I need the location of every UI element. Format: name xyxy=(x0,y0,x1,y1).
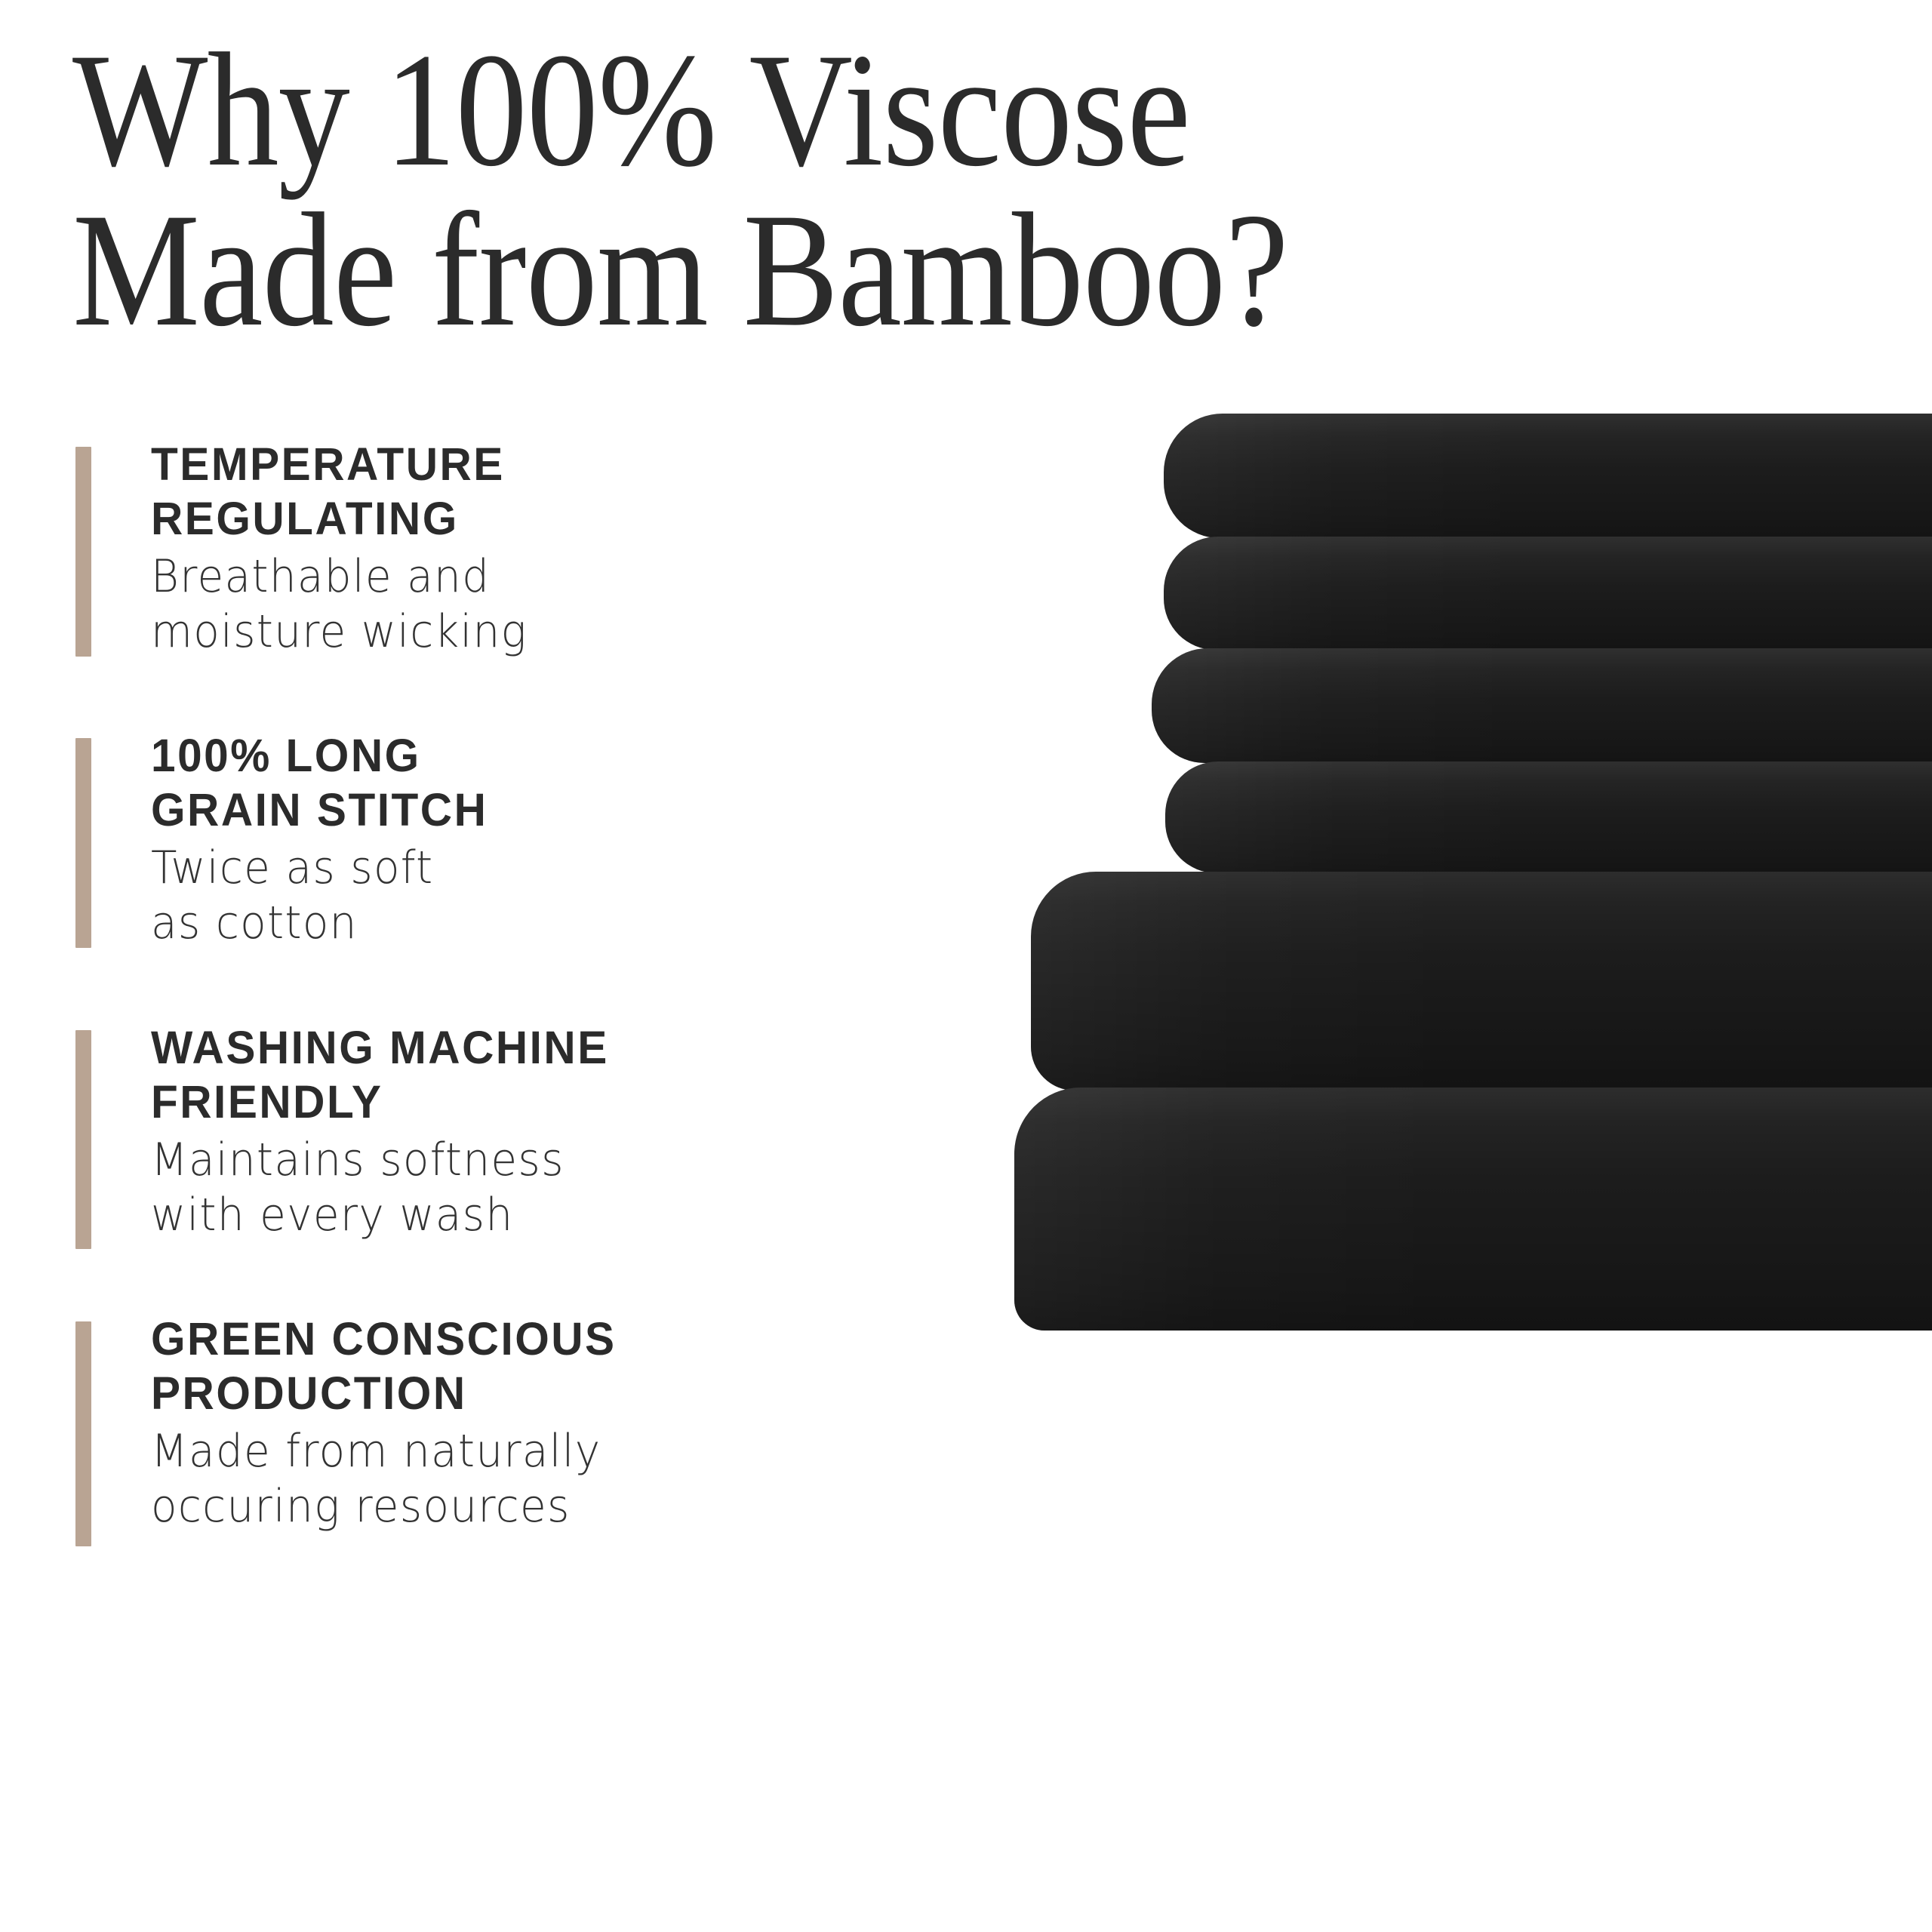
headline-line-1: Why 100% Viscose xyxy=(72,30,1241,190)
feature-description: Breathable and moisture wicking xyxy=(151,549,896,660)
feature-title: 100% LONG GRAIN STITCH xyxy=(151,729,912,838)
infographic-page: Why 100% Viscose Made from Bamboo? TEMPE… xyxy=(0,0,1932,1932)
feature-list: TEMPERATURE REGULATING Breathable and mo… xyxy=(75,438,943,1534)
feature-title: TEMPERATURE REGULATING xyxy=(151,438,912,546)
feature-title: WASHING MACHINE FRIENDLY xyxy=(151,1021,912,1130)
feature-description: Maintains softness with every wash xyxy=(151,1133,896,1243)
folded-sheet-layer xyxy=(1164,537,1932,650)
feature-description: Made from naturally occuring resources xyxy=(151,1424,896,1534)
folded-sheet-layer xyxy=(1165,761,1932,873)
feature-title: GREEN CONSCIOUS PRODUCTION xyxy=(151,1312,912,1421)
accent-bar-icon xyxy=(75,447,91,657)
product-image-folded-sheets xyxy=(1004,414,1932,1855)
feature-item-long-grain-stitch: 100% LONG GRAIN STITCH Twice as soft as … xyxy=(75,729,943,951)
headline-line-2: Made from Bamboo? xyxy=(72,190,1241,350)
accent-bar-icon xyxy=(75,1321,91,1546)
accent-bar-icon xyxy=(75,1030,91,1249)
folded-sheet-layer xyxy=(1164,414,1932,538)
feature-item-washing-machine-friendly: WASHING MACHINE FRIENDLY Maintains softn… xyxy=(75,1021,943,1243)
feature-description: Twice as soft as cotton xyxy=(151,841,896,951)
folded-sheet-layer xyxy=(1152,648,1932,763)
folded-sheet-layer xyxy=(1031,872,1932,1091)
folded-sheet-layer xyxy=(1014,1088,1932,1331)
page-title: Why 100% Viscose Made from Bamboo? xyxy=(72,30,1241,349)
feature-item-temperature-regulating: TEMPERATURE REGULATING Breathable and mo… xyxy=(75,438,943,660)
feature-item-green-conscious-production: GREEN CONSCIOUS PRODUCTION Made from nat… xyxy=(75,1312,943,1534)
accent-bar-icon xyxy=(75,738,91,948)
